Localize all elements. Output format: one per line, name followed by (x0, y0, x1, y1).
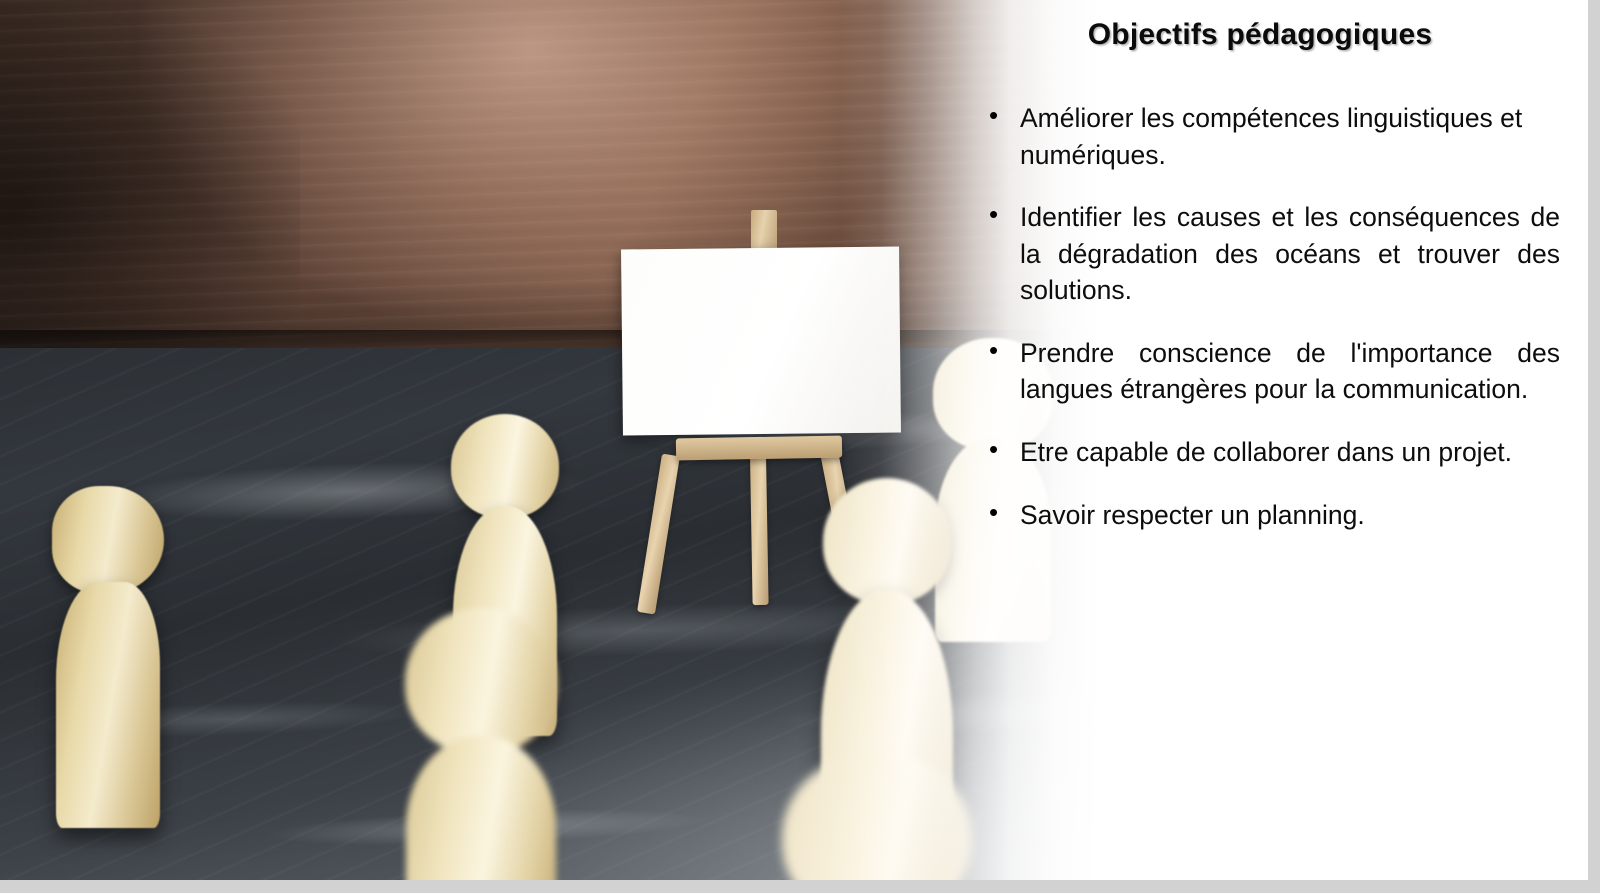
bullet-text: Etre capable de collaborer dans un proje… (1020, 434, 1560, 471)
figure-head (823, 478, 951, 604)
figure-head (451, 414, 559, 518)
easel-leg-left (637, 454, 680, 615)
slide-canvas: Objectifs pédagogiques Améliorer les com… (0, 0, 1600, 893)
list-item: Améliorer les compétences linguistiques … (980, 100, 1560, 173)
bullet-text: Améliorer les compétences linguistiques … (1020, 100, 1560, 173)
wooden-figure-far-left (38, 486, 178, 826)
easel-leg-back (750, 455, 769, 605)
bullet-text: Identifier les causes et les conséquence… (1020, 199, 1560, 309)
bullet-text: Savoir respecter un planning. (1020, 497, 1560, 534)
figure-head (52, 486, 164, 594)
list-item: Prendre conscience de l'importance des l… (980, 335, 1560, 408)
slide-border-bottom (0, 880, 1600, 893)
objectives-list: Améliorer les compétences linguistiques … (980, 100, 1560, 559)
list-item: Savoir respecter un planning. (980, 497, 1560, 534)
easel-canvas-card (621, 247, 901, 436)
easel-tray (676, 436, 842, 461)
list-item: Identifier les causes et les conséquence… (980, 199, 1560, 309)
wooden-figure-front-left (386, 608, 576, 880)
list-item: Etre capable de collaborer dans un proje… (980, 434, 1560, 471)
page-title: Objectifs pédagogiques (980, 18, 1540, 52)
figure-body (56, 582, 160, 828)
bullet-text: Prendre conscience de l'importance des l… (1020, 335, 1560, 408)
figure-head (782, 752, 972, 880)
content-panel: Objectifs pédagogiques Améliorer les com… (980, 0, 1580, 880)
figure-body (406, 736, 556, 880)
slide-border-right (1588, 0, 1600, 893)
figure-head (405, 608, 557, 754)
wooden-figure-front-center (772, 752, 982, 880)
